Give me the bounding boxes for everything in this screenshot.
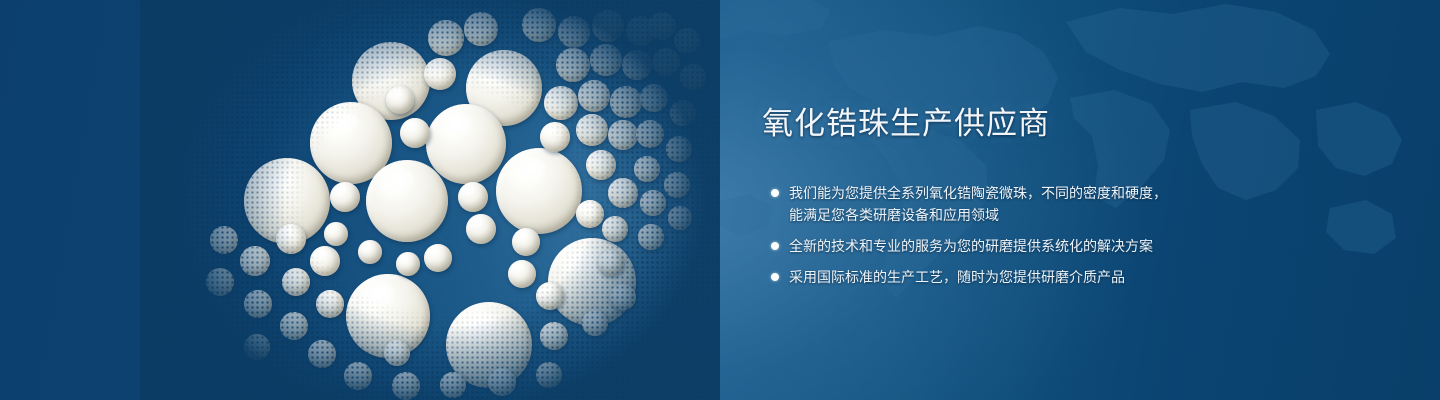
bead <box>666 136 692 162</box>
bead <box>578 80 610 112</box>
bead <box>464 12 498 46</box>
bead <box>610 284 636 310</box>
bead <box>576 200 604 228</box>
bead <box>540 122 570 152</box>
bead <box>244 158 330 244</box>
bead <box>428 20 464 56</box>
bead <box>424 58 456 90</box>
bead <box>608 120 638 150</box>
photo-edge-fade <box>140 0 720 400</box>
bead <box>366 160 448 242</box>
bead <box>670 100 696 126</box>
list-item-line-1: 采用国际标准的生产工艺，随时为您提供研磨介质产品 <box>789 269 1125 285</box>
list-item: 采用国际标准的生产工艺，随时为您提供研磨介质产品 <box>762 266 1282 288</box>
banner-content: 氧化锆珠生产供应商 我们能为您提供全系列氧化锆陶瓷微珠，不同的密度和硬度， 能满… <box>762 104 1282 297</box>
bead <box>668 206 692 230</box>
bead <box>396 252 420 276</box>
bead <box>466 50 542 126</box>
bead <box>316 290 344 318</box>
bead <box>592 10 624 42</box>
bead <box>540 322 568 350</box>
bead <box>240 246 270 276</box>
bead <box>556 48 590 82</box>
bead <box>636 120 664 148</box>
bead <box>244 290 272 318</box>
bead <box>440 372 466 398</box>
bead <box>352 42 430 120</box>
bullet-dot-icon <box>771 273 779 281</box>
bead <box>458 182 488 212</box>
bead <box>602 216 628 242</box>
bead <box>446 302 532 388</box>
bead <box>324 222 348 246</box>
bead <box>358 240 382 264</box>
bead <box>384 340 410 366</box>
list-item: 全新的技术和专业的服务为您的研磨提供系统化的解决方案 <box>762 235 1282 257</box>
bead <box>548 238 636 326</box>
bead <box>610 86 642 118</box>
bead <box>344 362 372 390</box>
halftone-dot-pattern <box>140 0 720 400</box>
bullet-dot-icon <box>771 189 779 197</box>
bullet-dot-icon <box>771 242 779 250</box>
hero-banner: 氧化锆珠生产供应商 我们能为您提供全系列氧化锆陶瓷微珠，不同的密度和硬度， 能满… <box>0 0 1440 400</box>
bead <box>426 104 506 184</box>
bead <box>424 244 452 272</box>
bead <box>622 50 652 80</box>
bead <box>674 28 700 54</box>
bead <box>206 268 234 296</box>
bead <box>282 268 310 296</box>
bead <box>640 190 666 216</box>
bead <box>392 372 420 400</box>
list-item-line-2: 能满足您各类研磨设备和应用领域 <box>789 204 1282 226</box>
bead <box>496 148 582 234</box>
bead <box>598 250 624 276</box>
list-item-line-1: 全新的技术和专业的服务为您的研磨提供系统化的解决方案 <box>789 238 1153 254</box>
bead <box>648 12 676 40</box>
page-title: 氧化锆珠生产供应商 <box>762 104 1282 144</box>
bead <box>536 282 564 310</box>
bead <box>210 226 238 254</box>
bead <box>466 214 496 244</box>
bead <box>400 118 430 148</box>
bead <box>626 16 656 46</box>
bead <box>638 224 664 250</box>
bead <box>576 114 608 146</box>
bead <box>522 8 556 42</box>
bead <box>244 334 270 360</box>
list-item-line-1: 我们能为您提供全系列氧化锆陶瓷微珠，不同的密度和硬度， <box>789 185 1167 201</box>
bead <box>640 84 668 112</box>
bead-cluster <box>140 0 720 400</box>
bead <box>346 274 430 358</box>
bead <box>558 16 590 48</box>
bead <box>386 86 414 114</box>
bead <box>590 44 622 76</box>
bead <box>586 150 616 180</box>
bead <box>680 64 706 90</box>
bead <box>330 182 360 212</box>
feature-list: 我们能为您提供全系列氧化锆陶瓷微珠，不同的密度和硬度， 能满足您各类研磨设备和应… <box>762 182 1282 288</box>
bead <box>512 228 540 256</box>
list-item: 我们能为您提供全系列氧化锆陶瓷微珠，不同的密度和硬度， 能满足您各类研磨设备和应… <box>762 182 1282 226</box>
bead <box>310 102 392 184</box>
bead <box>276 224 306 254</box>
bead <box>544 86 578 120</box>
bead <box>634 156 660 182</box>
bead <box>582 310 608 336</box>
bead <box>664 172 690 198</box>
bead <box>280 312 308 340</box>
zirconia-beads-image <box>140 0 720 400</box>
bead <box>310 246 340 276</box>
bead <box>508 260 536 288</box>
bead <box>608 178 638 208</box>
bead <box>488 368 516 396</box>
bead <box>652 48 680 76</box>
bead <box>536 362 562 388</box>
bead <box>308 340 336 368</box>
